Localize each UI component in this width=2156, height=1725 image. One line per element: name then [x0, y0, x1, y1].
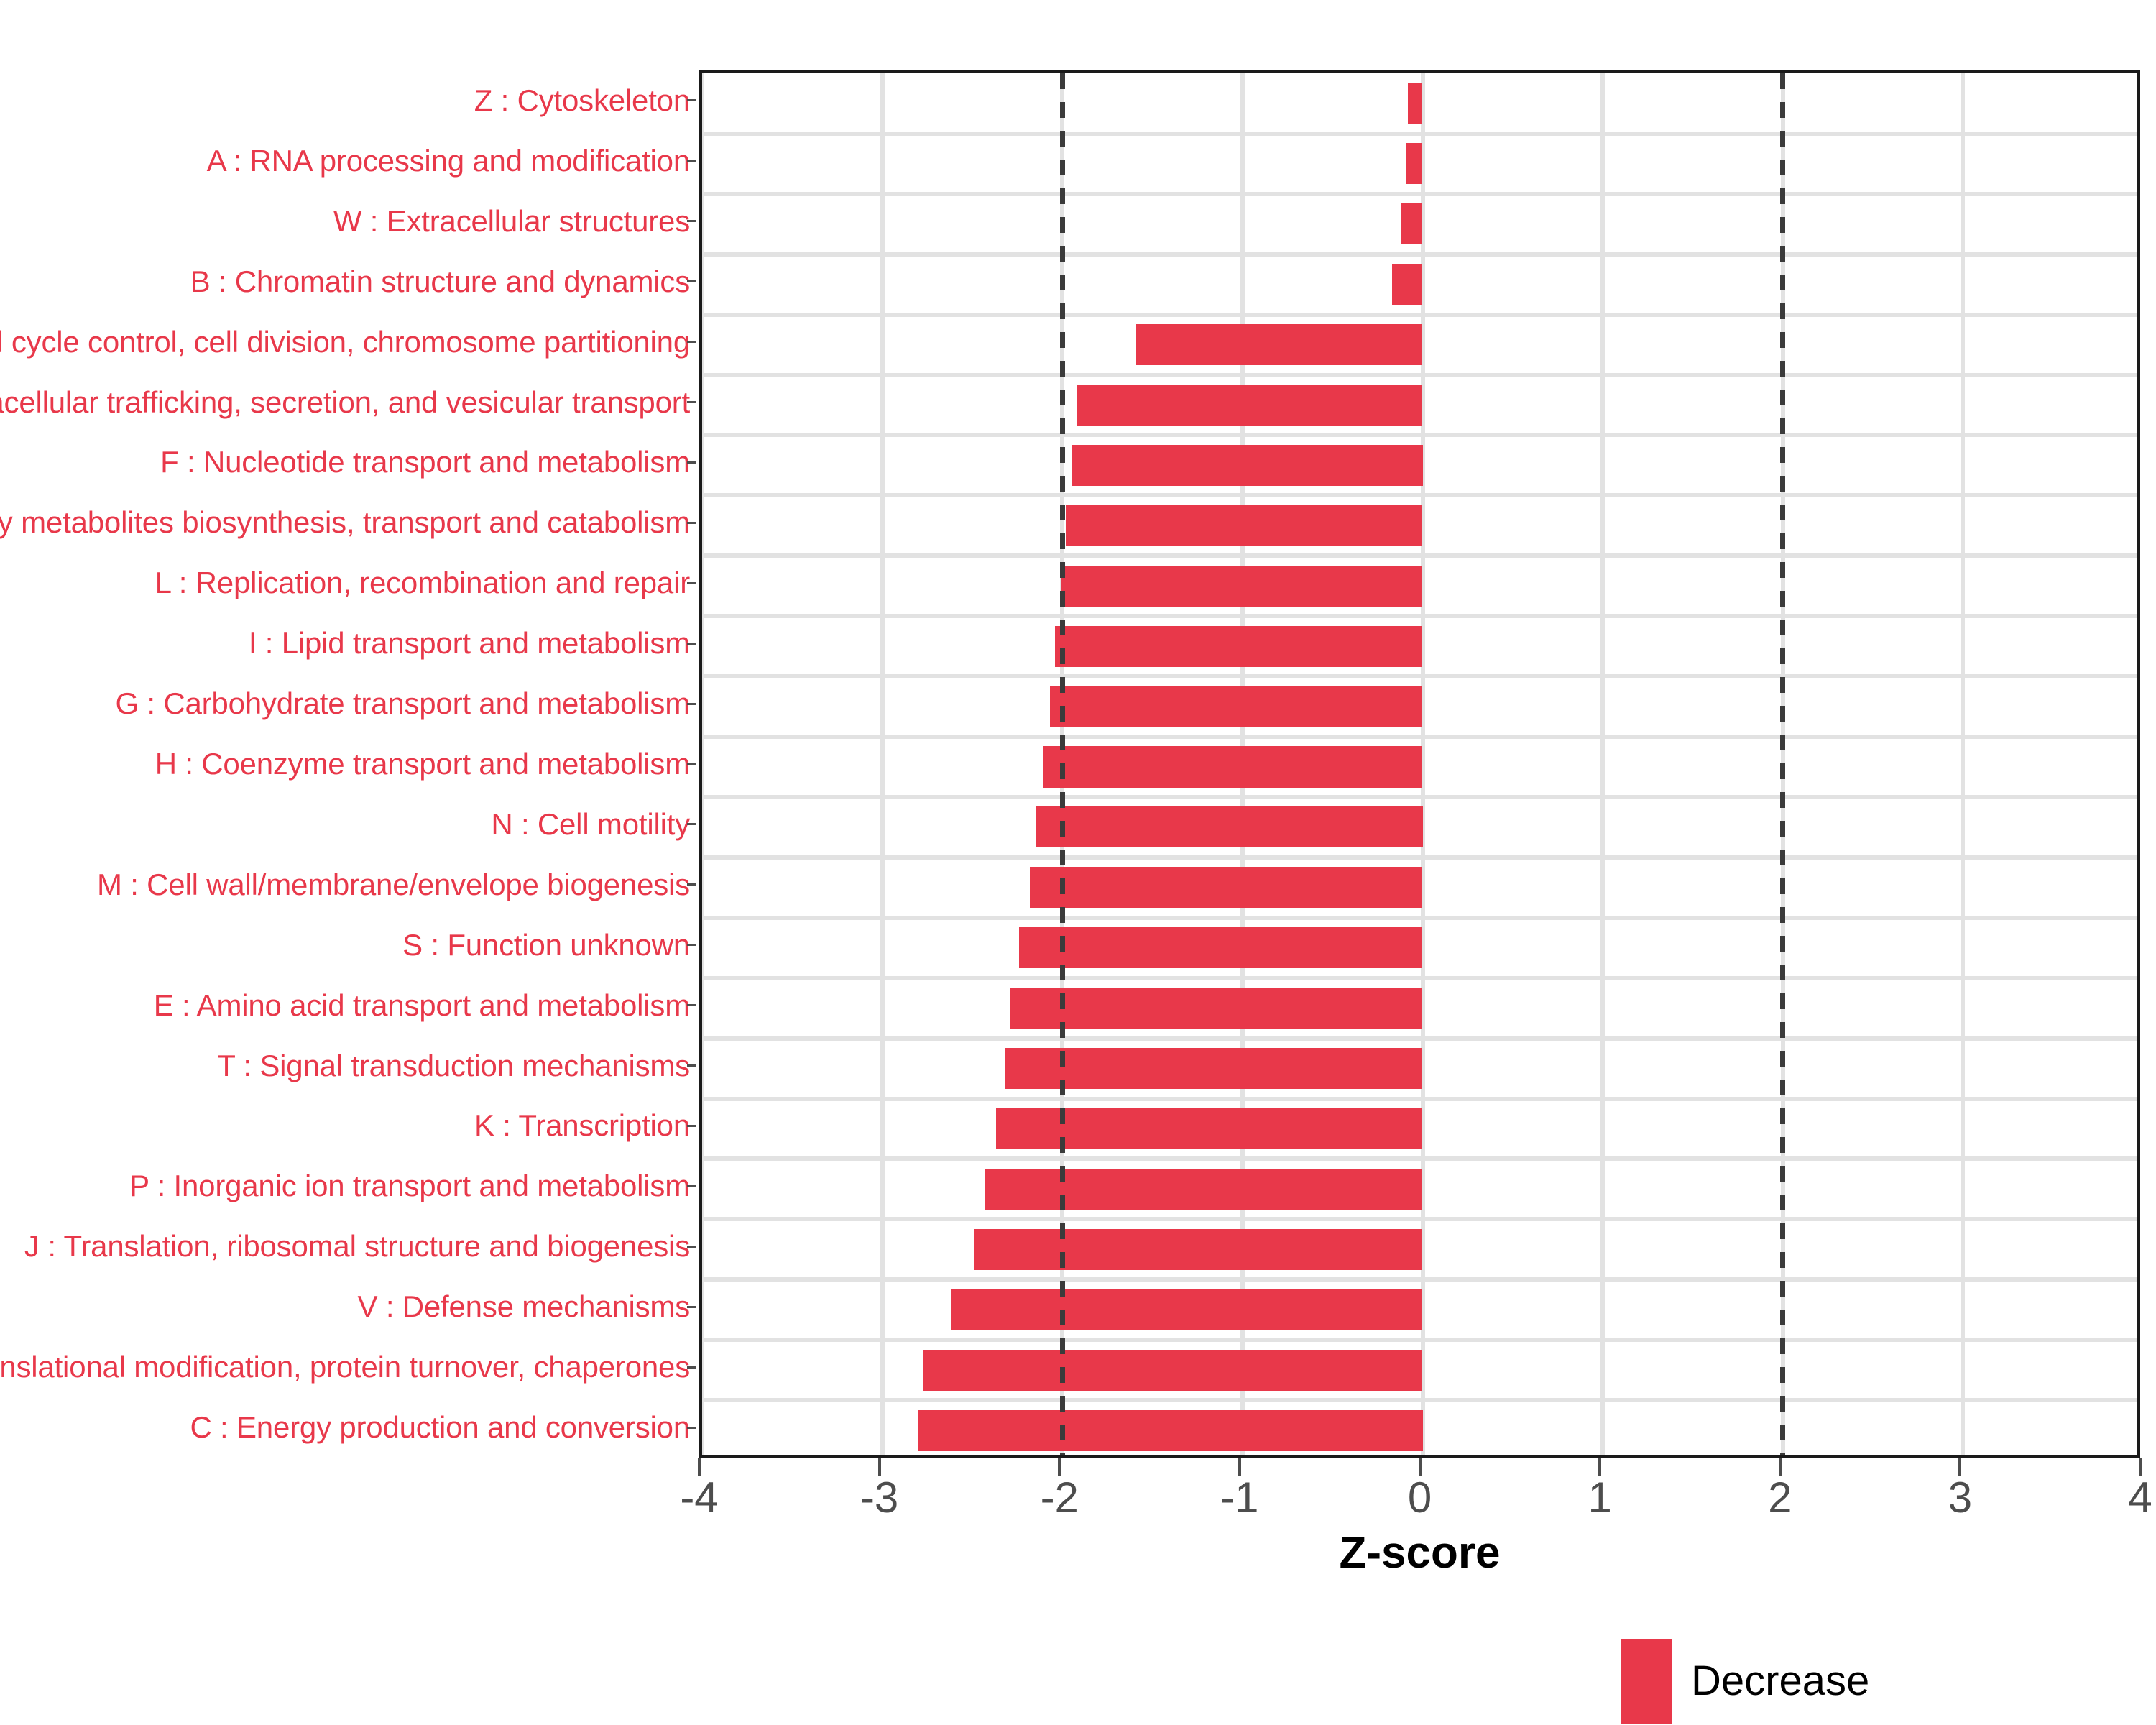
y-axis-label-row: L : Replication, recombination and repai… — [0, 553, 696, 613]
y-axis-label-text: T : Signal transduction mechanisms — [217, 1051, 690, 1081]
y-axis-label-text: I : Lipid transport and metabolism — [249, 628, 690, 658]
y-axis-label-text: M : Cell wall/membrane/envelope biogenes… — [97, 870, 690, 900]
y-axis-label-text: F : Nucleotide transport and metabolism — [160, 447, 690, 477]
bar — [1408, 83, 1422, 124]
y-axis-label-row: Z : Cytoskeleton — [0, 70, 696, 131]
legend-label-decrease: Decrease — [1691, 1660, 1869, 1702]
y-axis-label-row: Q : Secondary metabolites biosynthesis, … — [0, 492, 696, 553]
bar — [1055, 626, 1422, 667]
y-axis-label-row: O : Posttranslational modification, prot… — [0, 1337, 696, 1397]
y-axis-label-row: E : Amino acid transport and metabolism — [0, 975, 696, 1036]
bar — [1061, 566, 1423, 607]
y-axis-label-row: A : RNA processing and modification — [0, 131, 696, 191]
y-axis-tick — [687, 1064, 696, 1067]
x-axis-tick-label: 0 — [1408, 1476, 1432, 1519]
y-axis-tick — [687, 823, 696, 825]
y-axis-tick — [687, 1366, 696, 1368]
bar — [1010, 988, 1423, 1029]
y-gridline — [702, 674, 2137, 678]
y-axis-label-text: N : Cell motility — [491, 809, 690, 839]
y-axis-label-text: P : Inorganic ion transport and metaboli… — [129, 1171, 690, 1201]
y-gridline — [702, 192, 2137, 196]
y-axis-label-text: C : Energy production and conversion — [190, 1412, 690, 1443]
y-axis-label-text: J : Translation, ribosomal structure and… — [24, 1231, 690, 1261]
bar — [985, 1169, 1422, 1210]
x-axis-tick-label: 4 — [2128, 1476, 2152, 1519]
bar — [1072, 445, 1423, 486]
y-gridline — [702, 976, 2137, 980]
y-axis-label-text: B : Chromatin structure and dynamics — [190, 267, 690, 297]
plot-panel — [699, 70, 2140, 1458]
y-gridline — [702, 132, 2137, 136]
y-axis-label-row: K : Transcription — [0, 1096, 696, 1156]
y-axis-label-row: U : Intracellular trafficking, secretion… — [0, 372, 696, 433]
x-axis-title: Z-score — [699, 1531, 2140, 1575]
y-axis-label-row: G : Carbohydrate transport and metabolis… — [0, 673, 696, 734]
x-gridline — [880, 73, 885, 1455]
y-axis-tick — [687, 280, 696, 282]
legend: Decrease — [1621, 1639, 1869, 1724]
y-axis-tick — [687, 1125, 696, 1127]
y-gridline — [702, 1156, 2137, 1161]
y-axis-tick — [687, 522, 696, 524]
y-gridline — [702, 373, 2137, 377]
y-gridline — [702, 313, 2137, 317]
y-axis-label-row: S : Function unknown — [0, 915, 696, 975]
y-axis-tick — [687, 1004, 696, 1006]
y-axis-tick — [687, 883, 696, 885]
y-axis-label-text: L : Replication, recombination and repai… — [155, 568, 690, 598]
x-gridline — [1600, 73, 1605, 1455]
y-gridline — [702, 553, 2137, 558]
y-axis-label-text: Q : Secondary metabolites biosynthesis, … — [0, 507, 690, 538]
y-axis-tick — [687, 1427, 696, 1429]
y-axis-label-text: D : Cell cycle control, cell division, c… — [0, 327, 690, 357]
y-axis-label-row: H : Coenzyme transport and metabolism — [0, 734, 696, 794]
x-gridline — [1961, 73, 1965, 1455]
y-gridline — [702, 1277, 2137, 1282]
y-gridline — [702, 493, 2137, 497]
x-gridline — [700, 73, 704, 1455]
y-axis-label-row: B : Chromatin structure and dynamics — [0, 252, 696, 312]
y-axis-tick — [687, 944, 696, 946]
y-axis-tick — [687, 99, 696, 101]
y-axis-tick — [687, 401, 696, 403]
bar — [1077, 385, 1422, 425]
y-axis-tick — [687, 1306, 696, 1308]
y-axis-label-row: M : Cell wall/membrane/envelope biogenes… — [0, 855, 696, 915]
y-axis-label-row: C : Energy production and conversion — [0, 1397, 696, 1458]
y-axis-label-row: P : Inorganic ion transport and metaboli… — [0, 1156, 696, 1216]
y-axis-label-text: W : Extracellular structures — [333, 206, 690, 236]
bar — [1043, 746, 1423, 787]
y-gridline — [702, 252, 2137, 257]
y-axis-label-row: V : Defense mechanisms — [0, 1276, 696, 1337]
y-gridline — [702, 1036, 2137, 1041]
y-gridline — [702, 1097, 2137, 1101]
bar — [1050, 686, 1423, 727]
y-axis-tick — [687, 341, 696, 343]
y-gridline — [702, 1217, 2137, 1221]
bar — [1066, 505, 1422, 546]
y-axis-tick — [687, 643, 696, 645]
y-axis-tick — [687, 1246, 696, 1248]
y-axis-label-row: T : Signal transduction mechanisms — [0, 1036, 696, 1096]
bar — [1136, 324, 1422, 365]
x-axis-tick-label: -3 — [860, 1476, 898, 1519]
cog-enrichment-zscore-chart: Z : CytoskeletonA : RNA processing and m… — [0, 0, 2156, 1725]
y-axis-tick — [687, 582, 696, 584]
y-axis-label-row: I : Lipid transport and metabolism — [0, 613, 696, 673]
y-axis-category-labels: Z : CytoskeletonA : RNA processing and m… — [0, 70, 696, 1458]
y-axis-tick — [687, 160, 696, 162]
bar — [951, 1289, 1423, 1330]
y-axis-tick — [687, 220, 696, 222]
x-axis-tick-label: 2 — [1768, 1476, 1792, 1519]
y-axis-label-row: J : Translation, ribosomal structure and… — [0, 1216, 696, 1276]
y-axis-tick — [687, 703, 696, 705]
y-gridline — [702, 795, 2137, 799]
x-axis-tick-label: -4 — [680, 1476, 718, 1519]
y-axis-label-text: G : Carbohydrate transport and metabolis… — [115, 689, 690, 719]
bar — [1005, 1048, 1422, 1089]
y-axis-tick — [687, 461, 696, 464]
y-axis-label-text: E : Amino acid transport and metabolism — [154, 990, 690, 1021]
y-axis-label-text: O : Posttranslational modification, prot… — [0, 1352, 690, 1382]
y-axis-label-row: F : Nucleotide transport and metabolism — [0, 432, 696, 492]
y-axis-label-text: A : RNA processing and modification — [207, 146, 690, 176]
y-gridline — [702, 855, 2137, 860]
y-axis-tick — [687, 763, 696, 765]
bar — [1401, 203, 1422, 244]
y-axis-label-text: U : Intracellular trafficking, secretion… — [0, 387, 690, 418]
y-gridline — [702, 433, 2137, 437]
y-axis-label-text: Z : Cytoskeleton — [474, 86, 690, 116]
x-axis-tick-label: 3 — [1948, 1476, 1972, 1519]
y-axis-label-text: K : Transcription — [474, 1110, 690, 1141]
bar — [923, 1350, 1422, 1391]
y-gridline — [702, 916, 2137, 920]
bar — [1030, 867, 1422, 908]
y-axis-label-row: N : Cell motility — [0, 794, 696, 855]
y-axis-label-text: H : Coenzyme transport and metabolism — [155, 749, 690, 779]
y-axis-label-row: W : Extracellular structures — [0, 191, 696, 252]
y-axis-label-text: V : Defense mechanisms — [358, 1292, 690, 1322]
reference-line — [1060, 73, 1065, 1455]
bar — [1019, 927, 1422, 968]
legend-swatch-decrease — [1621, 1639, 1672, 1724]
bar — [918, 1410, 1423, 1451]
y-gridline — [702, 614, 2137, 618]
reference-line — [1780, 73, 1785, 1455]
x-axis-tick-label: 1 — [1588, 1476, 1611, 1519]
y-axis-label-text: S : Function unknown — [402, 930, 690, 960]
bar — [1036, 806, 1423, 847]
bar — [1406, 143, 1423, 184]
x-axis-tick-label: -1 — [1220, 1476, 1258, 1519]
y-axis-tick — [687, 1185, 696, 1187]
y-gridline — [702, 735, 2137, 739]
y-gridline — [702, 1398, 2137, 1402]
y-gridline — [702, 1338, 2137, 1342]
bar — [1392, 264, 1423, 305]
x-axis-tick-label: -2 — [1041, 1476, 1079, 1519]
y-axis-label-row: D : Cell cycle control, cell division, c… — [0, 312, 696, 372]
bar — [974, 1229, 1422, 1270]
